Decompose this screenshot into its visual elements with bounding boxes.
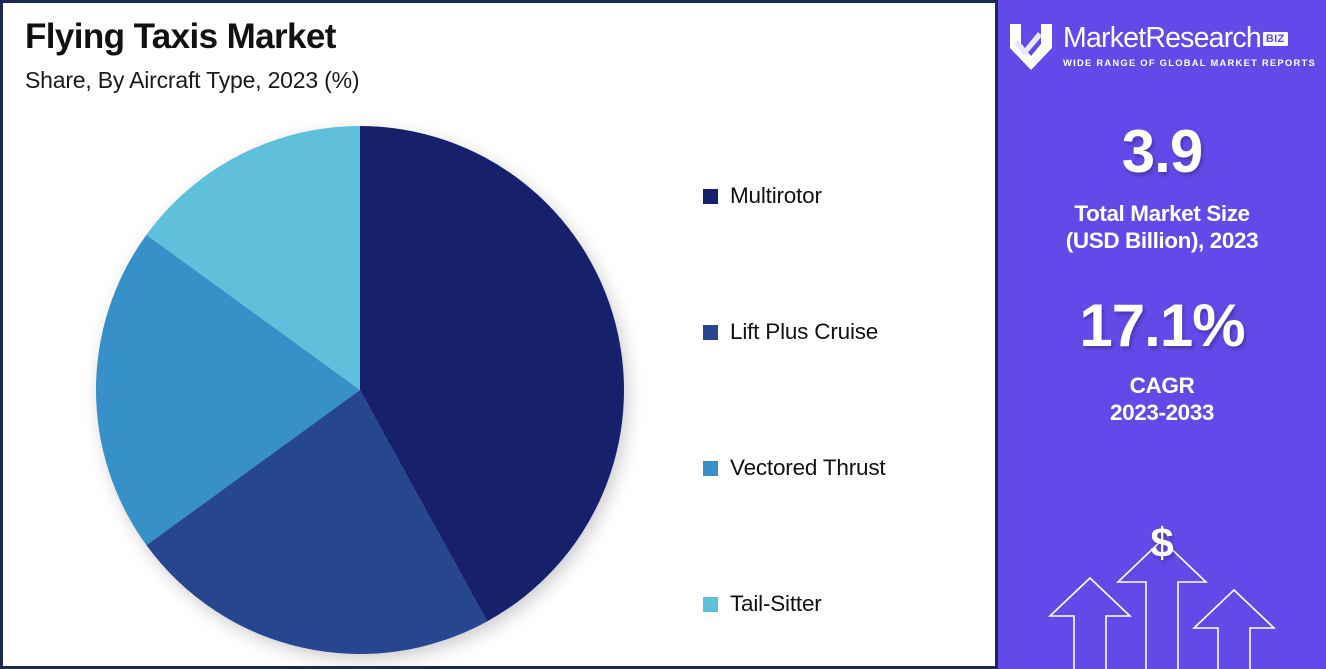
legend-item-lift-plus-cruise[interactable]: Lift Plus Cruise [703, 264, 993, 400]
stat-value-cagr: 17.1% [998, 296, 1326, 356]
legend-item-label: Lift Plus Cruise [730, 319, 878, 345]
brand-side-panel: MarketResearch BIZ WIDE RANGE OF GLOBAL … [998, 0, 1326, 669]
legend-swatch-icon [703, 597, 718, 612]
pie-chart [95, 125, 625, 655]
legend-item-multirotor[interactable]: Multirotor [703, 128, 993, 264]
chart-header: Flying Taxis Market Share, By Aircraft T… [25, 17, 359, 94]
legend-swatch-icon [703, 325, 718, 340]
stat-caption-cagr: CAGR 2023-2033 [998, 372, 1326, 426]
growth-arrows-graphic: $ [998, 504, 1326, 669]
chart-panel: Flying Taxis Market Share, By Aircraft T… [0, 0, 998, 669]
chart-subtitle: Share, By Aircraft Type, 2023 (%) [25, 67, 359, 94]
logo-tagline: WIDE RANGE OF GLOBAL MARKET REPORTS [1063, 57, 1316, 68]
legend-item-label: Multirotor [730, 183, 822, 209]
pie-slices-svg [95, 125, 625, 655]
logo-text: MarketResearch BIZ WIDE RANGE OF GLOBAL … [1063, 24, 1316, 68]
dollar-sign-icon: $ [998, 522, 1326, 564]
stat-value-market-size: 3.9 [998, 122, 1326, 182]
stat-caption-line1: Total Market Size [998, 200, 1326, 227]
stat-caption-line1: CAGR [998, 372, 1326, 399]
stat-caption-line2: 2023-2033 [998, 399, 1326, 426]
legend-swatch-icon [703, 189, 718, 204]
logo-name: MarketResearch [1063, 24, 1261, 53]
stat-caption-market-size: Total Market Size (USD Billion), 2023 [998, 200, 1326, 254]
legend-item-label: Tail-Sitter [730, 591, 822, 617]
legend-item-label: Vectored Thrust [730, 455, 885, 481]
marketresearch-checkmark-logo-icon [1008, 22, 1054, 70]
legend-item-tail-sitter[interactable]: Tail-Sitter [703, 536, 993, 669]
logo-badge: BIZ [1263, 32, 1288, 46]
legend: Multirotor Lift Plus Cruise Vectored Thr… [703, 128, 993, 669]
stat-caption-line2: (USD Billion), 2023 [998, 227, 1326, 254]
legend-swatch-icon [703, 461, 718, 476]
infographic-root: Flying Taxis Market Share, By Aircraft T… [0, 0, 1326, 669]
brand-logo[interactable]: MarketResearch BIZ WIDE RANGE OF GLOBAL … [998, 0, 1326, 70]
legend-item-vectored-thrust[interactable]: Vectored Thrust [703, 400, 993, 536]
page-title: Flying Taxis Market [25, 17, 359, 57]
